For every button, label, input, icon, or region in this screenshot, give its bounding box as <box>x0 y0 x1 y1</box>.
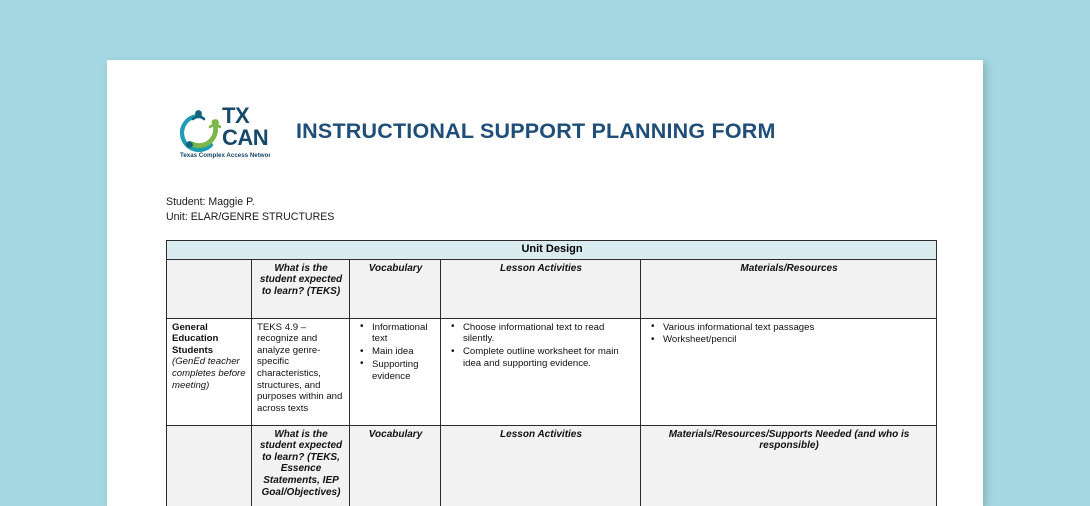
header-cell-lesson-activities-1: Lesson Activities <box>441 259 641 318</box>
header-cell-lesson-activities-2: Lesson Activities <box>441 425 641 506</box>
section-one-header-row: What is the student expected to learn? (… <box>167 259 937 318</box>
cell-lesson-activities: Choose informational text to read silent… <box>441 318 641 425</box>
logo-line2-text: CAN <box>222 125 268 150</box>
logo-tagline-text: Texas Complex Access Network <box>180 152 270 159</box>
unit-name-line: Unit: ELAR/GENRE STRUCTURES <box>166 210 936 225</box>
list-item: Informational text <box>372 322 436 346</box>
table-band-row: Unit Design <box>167 241 937 260</box>
unit-design-table: Unit Design What is the student expected… <box>166 240 937 506</box>
cell-materials: Various informational text passages Work… <box>641 318 937 425</box>
document-page: TX CAN Texas Complex Access Network INST… <box>107 60 983 506</box>
student-meta: Student: Maggie P. Unit: ELAR/GENRE STRU… <box>166 195 936 224</box>
lesson-activities-list: Choose informational text to read silent… <box>446 322 636 370</box>
student-name-line: Student: Maggie P. <box>166 195 936 210</box>
header-cell-vocabulary-1: Vocabulary <box>350 259 441 318</box>
vocabulary-list: Informational text Main idea Supporting … <box>355 322 436 383</box>
header-cell-vocabulary-2: Vocabulary <box>350 425 441 506</box>
header-cell-materials-2: Materials/Resources/Supports Needed (and… <box>641 425 937 506</box>
row-label-text: General Education Students <box>172 322 218 356</box>
list-item: Supporting evidence <box>372 359 436 383</box>
page-title: INSTRUCTIONAL SUPPORT PLANNING FORM <box>296 119 776 144</box>
header-cell-teks-1: What is the student expected to learn? (… <box>252 259 350 318</box>
document-content: TX CAN Texas Complex Access Network INST… <box>166 60 936 506</box>
header-cell-empty-2 <box>167 425 252 506</box>
screen-canvas: TX CAN Texas Complex Access Network INST… <box>0 0 1090 506</box>
unit-design-band-title: Unit Design <box>167 241 937 260</box>
row-label-note: (GenEd teacher completes before meeting) <box>172 356 246 390</box>
list-item: Main idea <box>372 346 436 358</box>
materials-list: Various informational text passages Work… <box>646 322 932 347</box>
list-item: Various informational text passages <box>663 322 932 334</box>
list-item: Worksheet/pencil <box>663 334 932 346</box>
section-two-header-row: What is the student expected to learn? (… <box>167 425 937 506</box>
txcan-logo-icon: TX CAN Texas Complex Access Network <box>166 100 270 162</box>
cell-vocabulary: Informational text Main idea Supporting … <box>350 318 441 425</box>
row-label-general-education: General Education Students (GenEd teache… <box>167 318 252 425</box>
table-row: General Education Students (GenEd teache… <box>167 318 937 425</box>
header-cell-teks-2: What is the student expected to learn? (… <box>252 425 350 506</box>
txcan-logo: TX CAN Texas Complex Access Network <box>166 100 270 162</box>
header-cell-empty-1 <box>167 259 252 318</box>
list-item: Complete outline worksheet for main idea… <box>463 346 636 370</box>
document-header: TX CAN Texas Complex Access Network INST… <box>166 60 936 167</box>
header-cell-materials-1: Materials/Resources <box>641 259 937 318</box>
list-item: Choose informational text to read silent… <box>463 322 636 346</box>
cell-teks: TEKS 4.9 – recognize and analyze genre-s… <box>252 318 350 425</box>
